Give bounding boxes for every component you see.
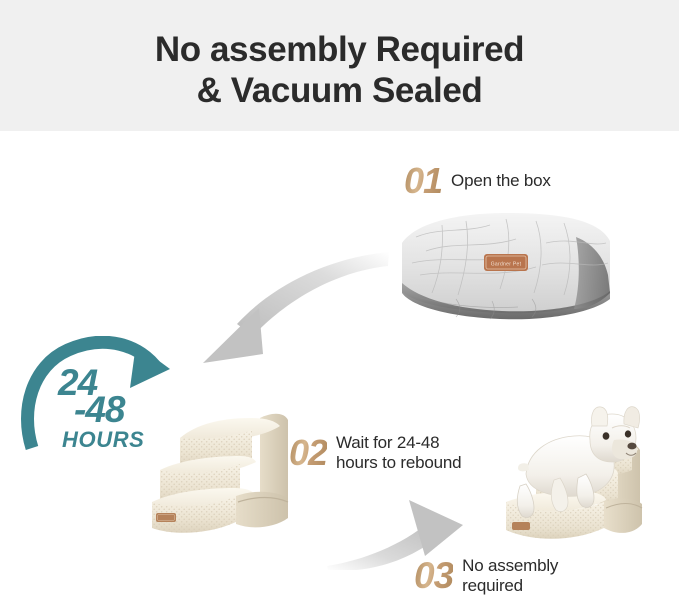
headline-line-1: No assembly Required <box>155 30 524 69</box>
header-band: No assembly Required & Vacuum Sealed <box>0 0 679 131</box>
arrow-stairs-to-dog <box>325 478 515 575</box>
step-01-label: Open the box <box>451 171 551 191</box>
dog-on-pet-stairs-image <box>492 404 670 553</box>
package-brand-tag: Gardner Pet <box>484 254 528 271</box>
dog-stairs-brand-tag <box>512 522 530 530</box>
foam-pet-stairs-image <box>148 398 353 545</box>
svg-text:Gardner Pet: Gardner Pet <box>491 262 522 268</box>
step-01-number: 01 <box>404 163 442 199</box>
arrow-box-to-stairs <box>175 250 390 370</box>
page-title: No assembly Required & Vacuum Sealed <box>0 29 679 111</box>
infographic-page: No assembly Required & Vacuum Sealed 01 … <box>0 0 679 608</box>
stairs-brand-tag <box>156 513 176 522</box>
step-01: 01 Open the box <box>404 163 551 199</box>
step-02-label: Wait for 24-48 hours to rebound <box>336 433 461 473</box>
vacuum-sealed-package-image: Gardner Pet <box>396 207 620 337</box>
headline-line-2: & Vacuum Sealed <box>0 70 679 111</box>
